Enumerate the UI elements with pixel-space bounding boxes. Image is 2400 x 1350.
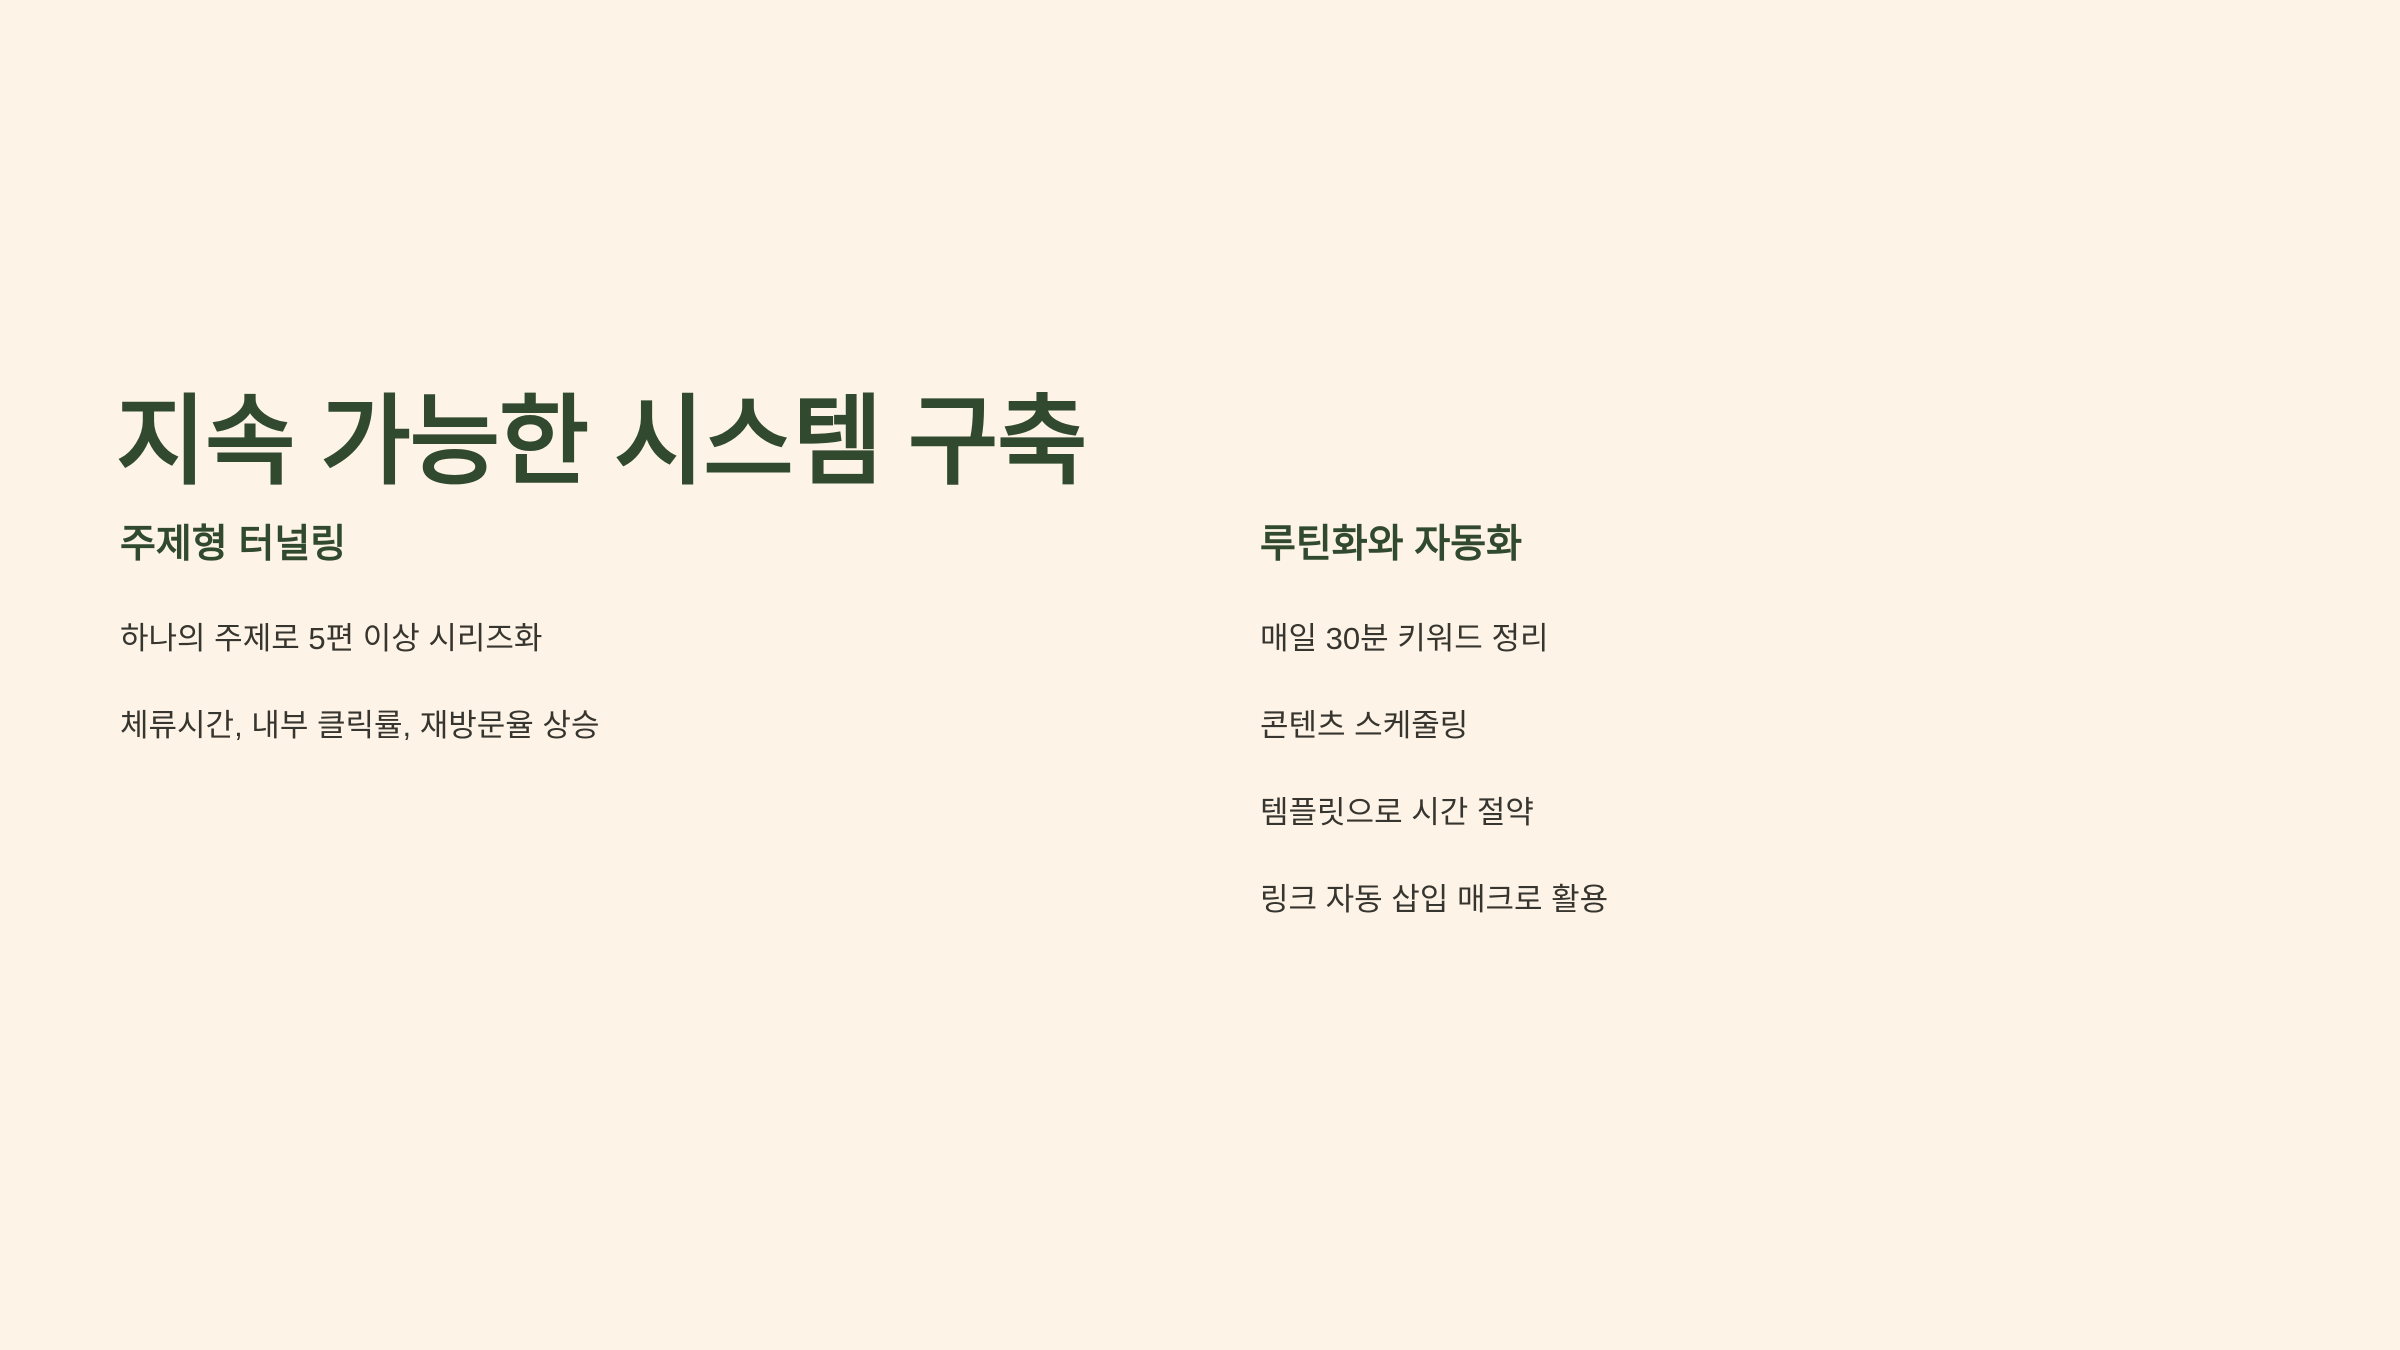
- list-item: 콘텐츠 스케줄링: [1260, 704, 2260, 749]
- column-heading-left: 주제형 터널링: [120, 520, 1130, 571]
- content-columns: 주제형 터널링 하나의 주제로 5편 이상 시리즈화 체류시간, 내부 클릭률,…: [0, 520, 2400, 922]
- column-routine-automation: 루틴화와 자동화 매일 30분 키워드 정리 콘텐츠 스케줄링 템플릿으로 시간…: [1130, 520, 2260, 922]
- list-item: 템플릿으로 시간 절약: [1260, 791, 2260, 836]
- column-heading-right: 루틴화와 자동화: [1260, 520, 2260, 571]
- bullet-list-right: 매일 30분 키워드 정리 콘텐츠 스케줄링 템플릿으로 시간 절약 링크 자동…: [1260, 617, 2260, 923]
- slide-canvas: 지속 가능한 시스템 구축 주제형 터널링 하나의 주제로 5편 이상 시리즈화…: [0, 0, 2400, 1350]
- bullet-list-left: 하나의 주제로 5편 이상 시리즈화 체류시간, 내부 클릭률, 재방문율 상승: [120, 617, 1130, 749]
- page-title: 지속 가능한 시스템 구축: [116, 384, 1086, 500]
- list-item: 링크 자동 삽입 매크로 활용: [1260, 878, 2260, 923]
- list-item: 하나의 주제로 5편 이상 시리즈화: [120, 617, 1130, 662]
- column-topic-tunneling: 주제형 터널링 하나의 주제로 5편 이상 시리즈화 체류시간, 내부 클릭률,…: [0, 520, 1130, 922]
- list-item: 매일 30분 키워드 정리: [1260, 617, 2260, 662]
- list-item: 체류시간, 내부 클릭률, 재방문율 상승: [120, 704, 1130, 749]
